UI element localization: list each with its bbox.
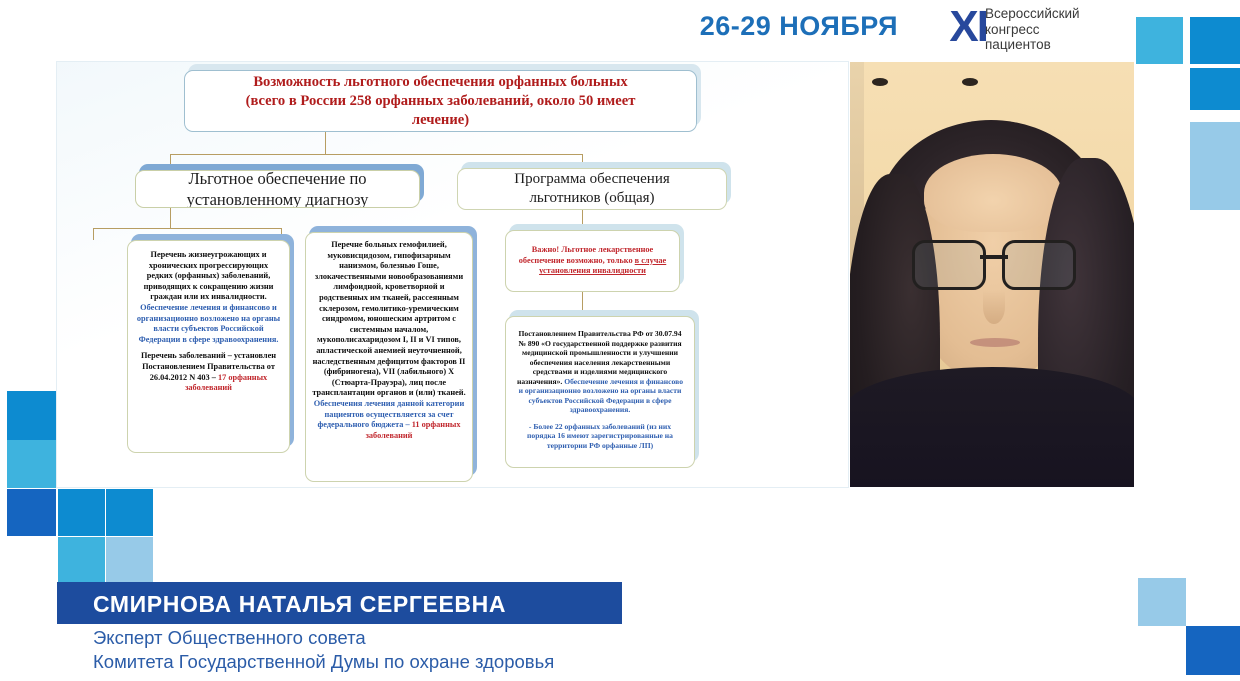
decor-square-bottom-right-1 xyxy=(1138,578,1186,626)
diagram-box-benefit-by-diagnosis: Льготное обеспечение по установленному д… xyxy=(135,170,420,208)
speaker-role-line-1: Эксперт Общественного совета xyxy=(93,626,554,650)
speaker-forehead xyxy=(924,154,1062,232)
diagram-box-federal-list: Перечне больных гемофилией, муковисцидоз… xyxy=(305,232,473,482)
diagram-box-regional-list: Перечень жизнеугрожающих и хронических п… xyxy=(127,240,290,453)
diagram-box-government-decree: Постановлением Правительства РФ от 30.07… xyxy=(505,316,695,468)
speaker-name: СМИРНОВА НАТАЛЬЯ СЕРГЕЕВНА xyxy=(93,591,506,618)
speaker-eye-left xyxy=(872,78,888,86)
title-line-1: Возможность льготного обеспечения орфанн… xyxy=(190,73,691,92)
diagram-title-box: Возможность льготного обеспечения орфанн… xyxy=(184,70,697,132)
speaker-nose xyxy=(983,290,1005,324)
speaker-role: Эксперт Общественного совета Комитета Го… xyxy=(93,626,554,674)
title-line-3: лечение) xyxy=(190,111,691,130)
title-box-text: Возможность льготного обеспечения орфанн… xyxy=(185,73,696,130)
speaker-name-banner: СМИРНОВА НАТАЛЬЯ СЕРГЕЕВНА xyxy=(57,582,622,624)
connector-l2a-down xyxy=(170,208,171,228)
speaker-torso xyxy=(850,367,1134,487)
connector-l3-horizontal xyxy=(93,228,281,229)
decor-square-left-5 xyxy=(106,489,153,536)
decree-paragraph-2: - Более 22 орфанных заболеваний (из них … xyxy=(527,422,673,450)
diagram-box-important-notice: Важно! Льготное лекарственное обеспечени… xyxy=(505,230,680,292)
presentation-slide: Возможность льготного обеспечения орфанн… xyxy=(57,62,848,487)
l2b-line-1: Программа обеспечения xyxy=(463,170,721,189)
left-box-paragraph-1-black: Перечень жизнеугрожающих и хронических п… xyxy=(144,250,274,301)
header: 26-29 НОЯБРЯ XI Всероссийский конгресс п… xyxy=(0,0,1240,62)
glasses-bridge xyxy=(980,255,1008,259)
glasses-lens-left xyxy=(912,240,986,290)
connector-level2-horizontal xyxy=(170,154,582,155)
decor-square-left-6 xyxy=(58,537,105,582)
decor-square-left-1 xyxy=(7,391,56,440)
speaker-role-line-2: Комитета Государственной Думы по охране … xyxy=(93,650,554,674)
header-dates: 26-29 НОЯБРЯ xyxy=(700,11,898,42)
important-text-1: Важно! Льготное лекарственное обеспечени… xyxy=(519,245,653,265)
decor-square-left-7 xyxy=(106,537,153,582)
connector-to-l3a xyxy=(93,228,94,240)
congress-line-3: пациентов xyxy=(985,37,1105,53)
header-roman-numeral: XI xyxy=(949,2,987,52)
header-congress-title: Всероссийский конгресс пациентов xyxy=(985,6,1105,53)
decor-square-left-4 xyxy=(58,489,105,536)
middle-box-black: Перечне больных гемофилией, муковисцидоз… xyxy=(312,240,465,397)
diagram-box-general-program: Программа обеспечения льготников (общая) xyxy=(457,168,727,210)
left-box-paragraph-1-blue: Обеспечение лечения и финансово и органи… xyxy=(137,303,280,344)
l2a-line-1: Льготное обеспечение по xyxy=(141,170,414,189)
l2b-line-2: льготников (общая) xyxy=(463,189,721,208)
connector-title-down xyxy=(325,132,326,154)
decor-square-left-2 xyxy=(7,440,56,488)
decor-square-top-right-3 xyxy=(1190,68,1240,110)
title-line-2: (всего в России 258 орфанных заболеваний… xyxy=(190,92,691,111)
decor-square-left-3 xyxy=(7,489,56,536)
decor-square-top-right-4 xyxy=(1190,122,1240,210)
congress-line-2: конгресс xyxy=(985,22,1105,38)
speaker-mouth xyxy=(970,338,1020,347)
glasses-lens-right xyxy=(1002,240,1076,290)
speaker-glasses xyxy=(912,240,1076,286)
speaker-video-feed[interactable] xyxy=(850,62,1134,487)
decor-square-bottom-right-2 xyxy=(1186,626,1240,675)
congress-line-1: Всероссийский xyxy=(985,6,1105,22)
stream-canvas: 26-29 НОЯБРЯ XI Всероссийский конгресс п… xyxy=(0,0,1240,681)
speaker-eye-right xyxy=(962,78,978,86)
l2a-line-2: установленному диагнозу xyxy=(141,189,414,208)
